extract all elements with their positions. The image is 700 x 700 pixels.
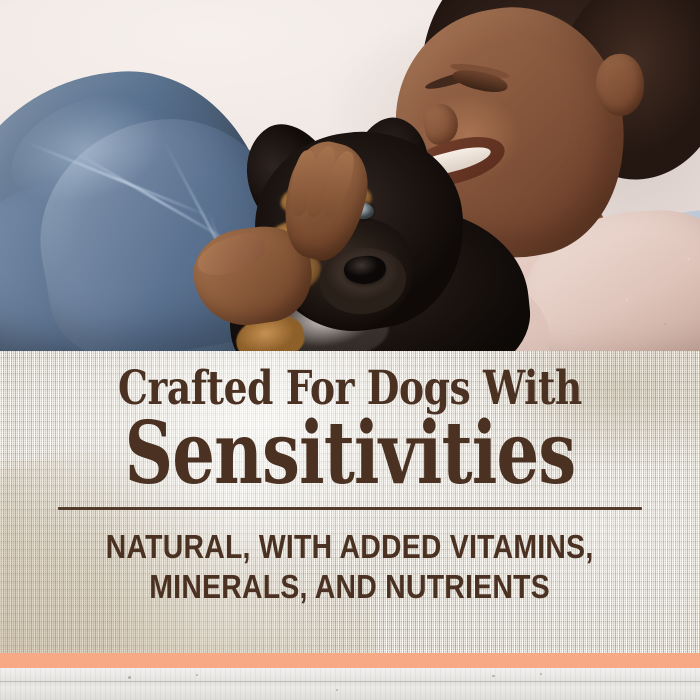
peach-accent-stripe: [0, 653, 700, 668]
product-feature-banner: Crafted For Dogs With Sensitivities NATU…: [0, 0, 700, 700]
horizontal-divider: [58, 507, 642, 510]
headline-line-2: Sensitivities: [125, 411, 576, 497]
wood-grain-texture: [0, 668, 700, 700]
burlap-text-panel: Crafted For Dogs With Sensitivities NATU…: [0, 351, 700, 653]
subtitle-line-2: MINERALS, AND NUTRIENTS: [106, 567, 594, 607]
wood-speck: [128, 676, 131, 679]
wood-speck: [336, 689, 338, 691]
wood-speck: [196, 674, 198, 676]
subtitle-block: NATURAL, WITH ADDED VITAMINS, MINERALS, …: [106, 527, 594, 608]
wood-speck: [540, 673, 542, 675]
subtitle-line-1: NATURAL, WITH ADDED VITAMINS,: [106, 527, 594, 567]
wood-speck: [492, 675, 495, 677]
wood-plank-seam: [0, 681, 700, 682]
headline-stack: Crafted For Dogs With Sensitivities NATU…: [0, 351, 700, 653]
whitewashed-wood-surface: [0, 668, 700, 700]
lifestyle-photo: [0, 0, 700, 351]
